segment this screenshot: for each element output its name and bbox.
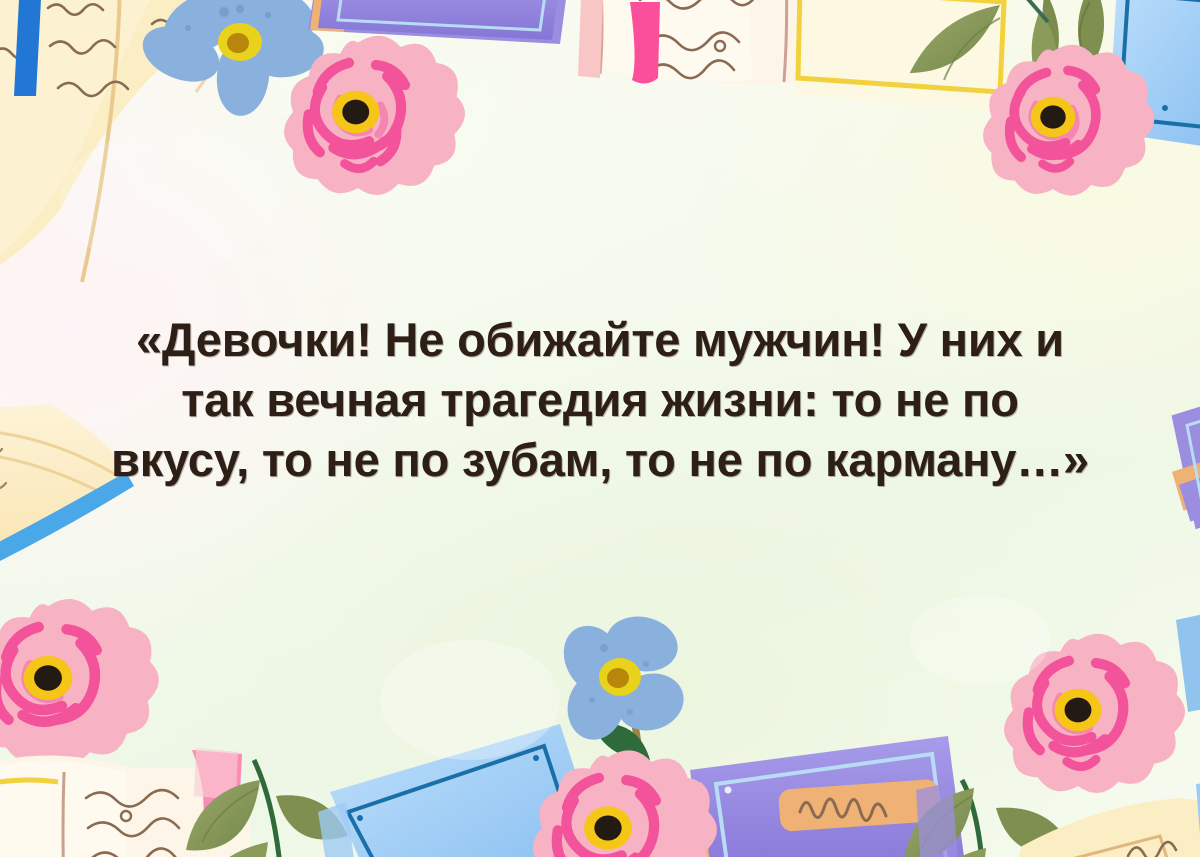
quote-line-1: «Девочки! Не обижайте мужчин! У них и xyxy=(95,310,1105,370)
quote-text-block: «Девочки! Не обижайте мужчин! У них и та… xyxy=(0,310,1200,490)
forget-me-not-bottom-center xyxy=(552,610,691,760)
quote-line-3: вкусу, то не по зубам, то не по карману…… xyxy=(95,430,1105,490)
quote-line-2: так вечная трагедия жизни: то не по xyxy=(95,370,1105,430)
rose-bottom-left xyxy=(0,599,159,764)
pink-bookmark-top-center xyxy=(630,2,660,84)
purple-book-top-center xyxy=(308,0,568,44)
quote-card: «Девочки! Не обижайте мужчин! У них и та… xyxy=(0,0,1200,857)
